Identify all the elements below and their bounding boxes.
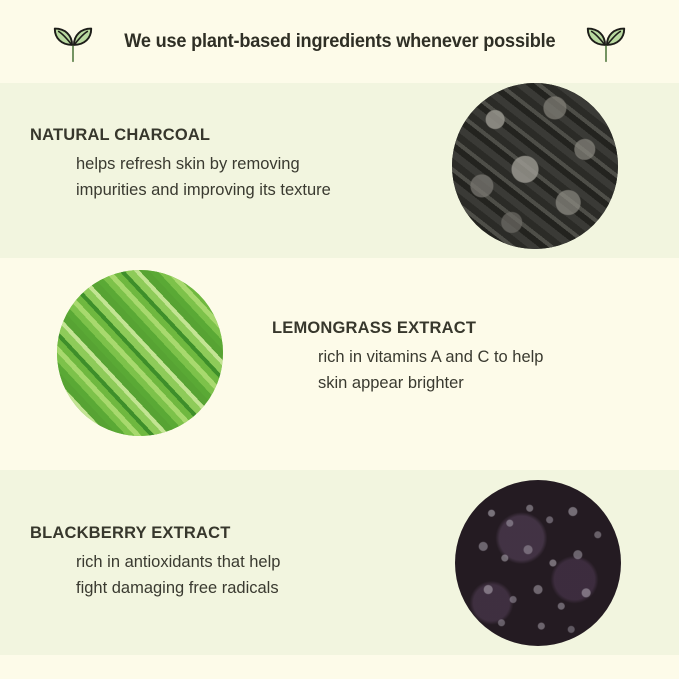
ingredient-title: NATURAL CHARCOAL [30, 125, 329, 145]
lemongrass-extract-photo [57, 270, 223, 436]
description-line: helps refresh skin by removing [76, 151, 331, 177]
ingredient-text-charcoal: NATURAL CHARCOAL helps refresh skin by r… [30, 125, 339, 203]
ingredient-description: rich in antioxidants that help fight dam… [76, 549, 280, 601]
ingredient-text-lemongrass: LEMONGRASS EXTRACT rich in vitamins A an… [272, 318, 550, 396]
page-title: We use plant-based ingredients whenever … [124, 30, 555, 53]
description-line: fight damaging free radicals [76, 575, 280, 601]
description-line: skin appear brighter [318, 370, 543, 396]
sprout-icon [50, 19, 96, 65]
description-line: impurities and improving its texture [76, 177, 331, 203]
description-line: rich in antioxidants that help [76, 549, 280, 575]
ingredient-row-lemongrass: LEMONGRASS EXTRACT rich in vitamins A an… [0, 270, 679, 470]
ingredient-row-charcoal: NATURAL CHARCOAL helps refresh skin by r… [0, 83, 679, 283]
ingredient-description: rich in vitamins A and C to help skin ap… [318, 344, 543, 396]
natural-charcoal-photo [452, 83, 618, 249]
description-line: rich in vitamins A and C to help [318, 344, 543, 370]
ingredient-title: BLACKBERRY EXTRACT [30, 523, 279, 543]
ingredient-row-blackberry: BLACKBERRY EXTRACT rich in antioxidants … [0, 465, 679, 665]
header-banner: We use plant-based ingredients whenever … [0, 0, 679, 83]
ingredient-description: helps refresh skin by removing impuritie… [76, 151, 331, 203]
infographic-page: We use plant-based ingredients whenever … [0, 0, 679, 679]
blackberry-extract-photo [455, 480, 621, 646]
ingredient-text-blackberry: BLACKBERRY EXTRACT rich in antioxidants … [30, 523, 287, 601]
ingredient-title: LEMONGRASS EXTRACT [272, 318, 542, 338]
sprout-icon [583, 19, 629, 65]
